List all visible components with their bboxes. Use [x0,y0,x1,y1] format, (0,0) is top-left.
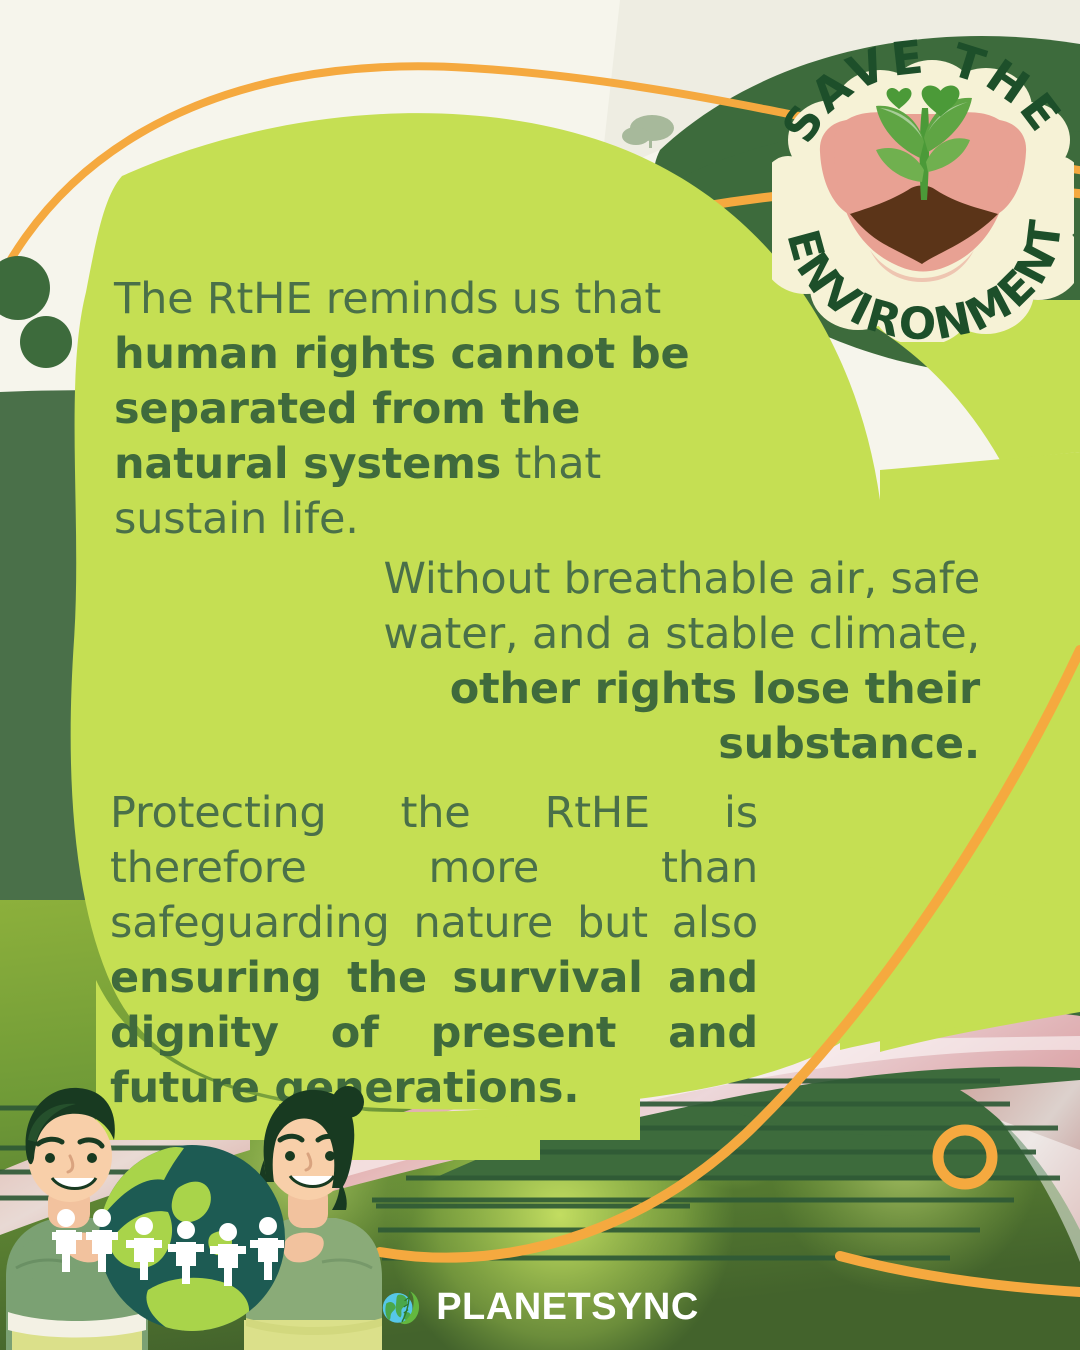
p1-run-2: human rights cannot be separated from th… [114,329,689,489]
globe-leaf-icon [381,1286,423,1328]
footer-brand: PLANETSYNC [0,1276,1080,1338]
p1-run-1: The RtHE reminds us that [114,274,661,324]
paragraph-two: Without breathable air, safe water, and … [320,552,980,772]
poster-canvas: SAVE THE ENVIRONMENT The RtHE reminds us… [0,0,1080,1350]
paragraph-three: Protecting the RtHE is therefore more th… [110,786,758,1116]
brand-name: PLANETSYNC [436,1288,699,1326]
p2-run-2: other rights lose their substance. [450,664,980,769]
p3-run-1: Protecting the RtHE is therefore more th… [110,788,758,948]
p2-run-1: Without breathable air, safe water, and … [383,554,980,659]
paragraph-one: The RtHE reminds us that human rights ca… [114,272,744,547]
